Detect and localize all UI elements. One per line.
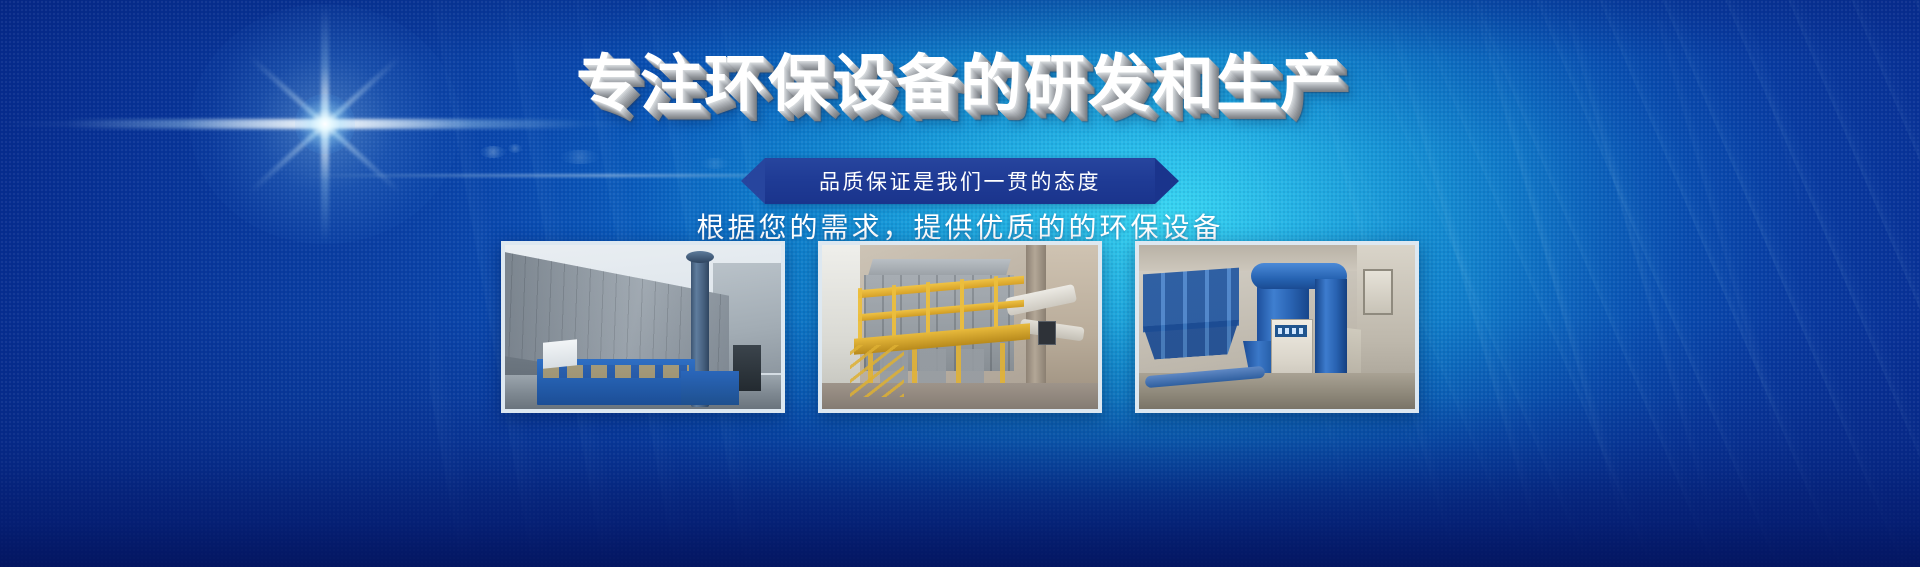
photo-1-white-panel	[543, 339, 577, 369]
banner-ribbon: 品质保证是我们一贯的态度	[765, 158, 1155, 204]
product-photo-gallery	[0, 241, 1920, 413]
promo-banner: 专注环保设备的研发和生产 品质保证是我们一贯的态度 根据您的需求，提供优质的的环…	[0, 0, 1920, 567]
photo-2-control-box	[1038, 321, 1056, 345]
photo-2-image	[822, 245, 1098, 409]
photo-3-downcomer	[1315, 279, 1347, 385]
photo-1-blue-equipment-secondary	[681, 371, 739, 405]
banner-tagline: 根据您的需求，提供优质的的环保设备	[0, 206, 1920, 246]
photo-factory-exterior-stack[interactable]	[501, 241, 785, 413]
photo-1-image	[505, 245, 781, 409]
photo-2-stairs	[850, 345, 904, 397]
photo-3-window	[1363, 269, 1393, 315]
photo-1-stack-cap	[686, 251, 714, 263]
banner-content: 专注环保设备的研发和生产 品质保证是我们一贯的态度 根据您的需求，提供优质的的环…	[0, 0, 1920, 567]
photo-blue-ducting-cyclone[interactable]	[1135, 241, 1419, 413]
photo-3-control-panel	[1275, 325, 1307, 337]
banner-ribbon-wrapper: 品质保证是我们一贯的态度	[0, 158, 1920, 204]
photo-3-image	[1139, 245, 1415, 409]
banner-headline: 专注环保设备的研发和生产	[0, 54, 1920, 116]
photo-3-hopper-cones	[1143, 320, 1239, 361]
banner-ribbon-label: 品质保证是我们一贯的态度	[819, 166, 1101, 196]
photo-platform-dust-collector[interactable]	[818, 241, 1102, 413]
